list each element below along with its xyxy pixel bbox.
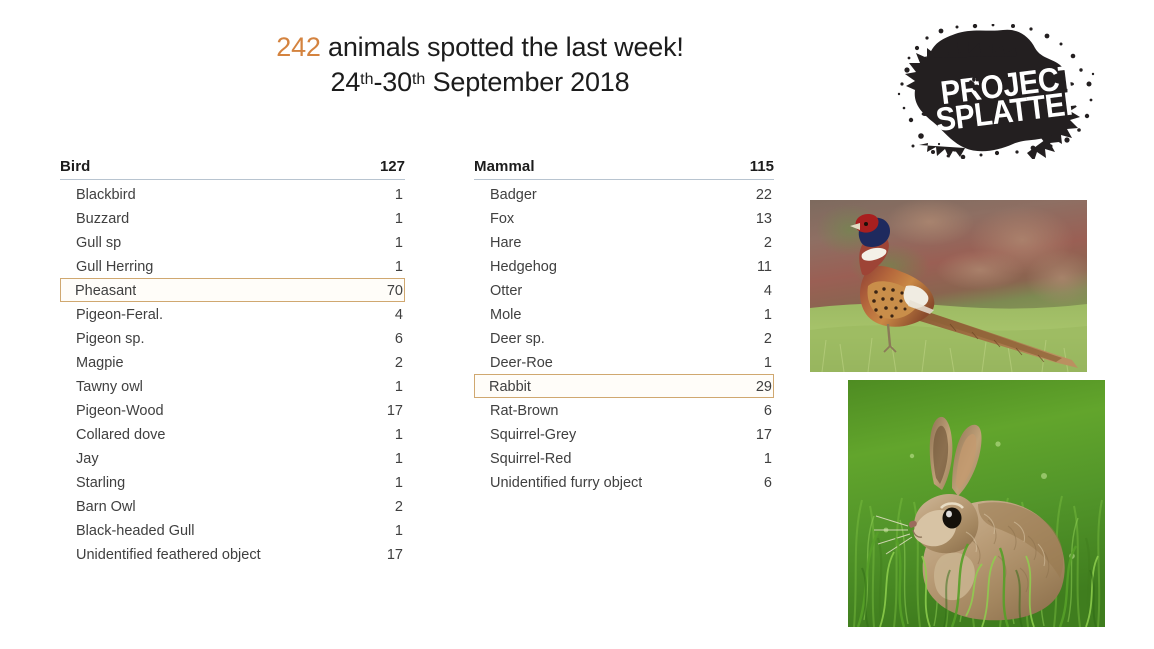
row-species-label: Rat-Brown <box>490 399 559 423</box>
rabbit-photo <box>848 380 1105 627</box>
table-row: Blackbird1 <box>60 182 405 206</box>
table-row: Starling1 <box>60 470 405 494</box>
row-species-label: Unidentified feathered object <box>76 543 261 567</box>
row-count-value: 11 <box>757 255 772 279</box>
bird-table-body: Blackbird1Buzzard1Gull sp1Gull Herring1P… <box>60 180 405 566</box>
row-count-value: 1 <box>395 519 403 543</box>
table-row: Tawny owl1 <box>60 374 405 398</box>
row-count-value: 17 <box>756 423 772 447</box>
row-count-value: 6 <box>764 471 772 495</box>
bird-table-header-label: Bird <box>60 158 90 175</box>
date-end-ordinal: th <box>412 71 425 88</box>
project-splatter-logo: PROJECT SPLATTER <box>893 24 1098 159</box>
row-species-label: Pigeon-Wood <box>76 399 164 423</box>
mammal-table: Mammal 115 Badger22Fox13Hare2Hedgehog11O… <box>474 158 774 494</box>
pheasant-photo <box>810 200 1087 372</box>
table-row: Pigeon sp.6 <box>60 326 405 350</box>
date-start: 24 <box>331 67 361 97</box>
table-row: Pigeon-Wood17 <box>60 398 405 422</box>
page-title: 242 animals spotted the last week! 24th-… <box>60 30 900 100</box>
table-row: Barn Owl2 <box>60 494 405 518</box>
table-row: Jay1 <box>60 446 405 470</box>
row-species-label: Pigeon sp. <box>76 327 145 351</box>
date-month-year: September 2018 <box>425 67 629 97</box>
row-species-label: Deer-Roe <box>490 351 553 375</box>
row-count-value: 1 <box>395 183 403 207</box>
table-row: Rat-Brown6 <box>474 398 774 422</box>
row-species-label: Rabbit <box>489 375 531 399</box>
row-species-label: Hedgehog <box>490 255 557 279</box>
row-count-value: 4 <box>395 303 403 327</box>
row-species-label: Squirrel-Red <box>490 447 571 471</box>
table-row: Gull Herring1 <box>60 254 405 278</box>
table-row: Hedgehog11 <box>474 254 774 278</box>
table-row: Pheasant70 <box>60 278 405 302</box>
row-count-value: 22 <box>756 183 772 207</box>
row-species-label: Mole <box>490 303 521 327</box>
row-species-label: Black-headed Gull <box>76 519 195 543</box>
row-count-value: 4 <box>764 279 772 303</box>
table-row: Collared dove1 <box>60 422 405 446</box>
row-count-value: 70 <box>387 279 403 303</box>
row-count-value: 6 <box>395 327 403 351</box>
mammal-table-header: Mammal 115 <box>474 158 774 180</box>
total-count: 242 <box>276 32 320 62</box>
table-row: Deer sp.2 <box>474 326 774 350</box>
row-species-label: Badger <box>490 183 537 207</box>
date-separator: -30 <box>374 67 412 97</box>
row-species-label: Jay <box>76 447 99 471</box>
table-row: Squirrel-Red1 <box>474 446 774 470</box>
row-count-value: 29 <box>756 375 772 399</box>
table-row: Badger22 <box>474 182 774 206</box>
title-headline-text: animals spotted the last week! <box>321 32 684 62</box>
row-species-label: Deer sp. <box>490 327 545 351</box>
row-count-value: 1 <box>395 255 403 279</box>
bird-table-total: 127 <box>380 158 405 175</box>
row-species-label: Hare <box>490 231 521 255</box>
table-row: Unidentified feathered object17 <box>60 542 405 566</box>
row-count-value: 1 <box>395 471 403 495</box>
row-count-value: 2 <box>395 351 403 375</box>
row-count-value: 1 <box>395 207 403 231</box>
mammal-table-header-label: Mammal <box>474 158 535 175</box>
row-count-value: 1 <box>395 231 403 255</box>
table-row: Unidentified furry object6 <box>474 470 774 494</box>
row-count-value: 1 <box>395 447 403 471</box>
row-count-value: 17 <box>387 399 403 423</box>
row-species-label: Pheasant <box>75 279 136 303</box>
bird-table-header: Bird 127 <box>60 158 405 180</box>
table-row: Deer-Roe1 <box>474 350 774 374</box>
row-count-value: 2 <box>764 231 772 255</box>
table-row: Squirrel-Grey17 <box>474 422 774 446</box>
row-species-label: Fox <box>490 207 514 231</box>
table-row: Hare2 <box>474 230 774 254</box>
table-row: Rabbit29 <box>474 374 774 398</box>
table-row: Buzzard1 <box>60 206 405 230</box>
title-daterange: 24th-30th September 2018 <box>60 65 900 100</box>
row-species-label: Blackbird <box>76 183 136 207</box>
row-count-value: 1 <box>764 351 772 375</box>
date-start-ordinal: th <box>360 71 373 88</box>
row-species-label: Magpie <box>76 351 124 375</box>
table-row: Pigeon-Feral.4 <box>60 302 405 326</box>
row-count-value: 2 <box>395 495 403 519</box>
row-count-value: 13 <box>756 207 772 231</box>
table-row: Magpie2 <box>60 350 405 374</box>
row-count-value: 1 <box>764 303 772 327</box>
row-species-label: Unidentified furry object <box>490 471 642 495</box>
row-count-value: 1 <box>395 423 403 447</box>
row-species-label: Squirrel-Grey <box>490 423 576 447</box>
table-row: Otter4 <box>474 278 774 302</box>
bird-table: Bird 127 Blackbird1Buzzard1Gull sp1Gull … <box>60 158 405 566</box>
row-count-value: 1 <box>395 375 403 399</box>
table-row: Fox13 <box>474 206 774 230</box>
row-species-label: Buzzard <box>76 207 129 231</box>
row-count-value: 17 <box>387 543 403 567</box>
mammal-table-body: Badger22Fox13Hare2Hedgehog11Otter4Mole1D… <box>474 180 774 494</box>
row-count-value: 2 <box>764 327 772 351</box>
row-species-label: Otter <box>490 279 522 303</box>
table-row: Gull sp1 <box>60 230 405 254</box>
mammal-table-total: 115 <box>750 158 774 175</box>
row-species-label: Gull sp <box>76 231 121 255</box>
row-species-label: Barn Owl <box>76 495 136 519</box>
row-count-value: 1 <box>764 447 772 471</box>
row-species-label: Pigeon-Feral. <box>76 303 163 327</box>
table-row: Mole1 <box>474 302 774 326</box>
table-row: Black-headed Gull1 <box>60 518 405 542</box>
row-count-value: 6 <box>764 399 772 423</box>
row-species-label: Collared dove <box>76 423 165 447</box>
row-species-label: Tawny owl <box>76 375 143 399</box>
row-species-label: Starling <box>76 471 125 495</box>
row-species-label: Gull Herring <box>76 255 153 279</box>
title-headline: 242 animals spotted the last week! <box>60 30 900 65</box>
